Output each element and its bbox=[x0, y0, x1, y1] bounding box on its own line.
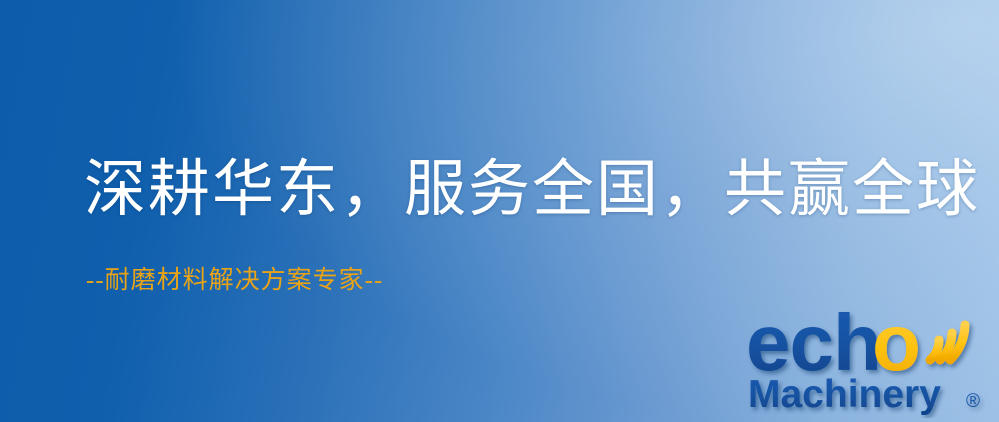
logo-tagline: Machinery bbox=[748, 373, 941, 416]
echo-machinery-logo[interactable]: ech o Machinery ® bbox=[744, 292, 994, 418]
logo-artwork: ech o Machinery ® bbox=[744, 292, 994, 418]
signal-waves-icon bbox=[930, 325, 965, 360]
hero-banner: 深耕华东，服务全国，共赢全球 --耐磨材料解决方案专家-- bbox=[0, 0, 999, 422]
page-title: 深耕华东，服务全国，共赢全球 bbox=[84, 155, 980, 225]
page-subtitle: --耐磨材料解决方案专家-- bbox=[86, 266, 383, 296]
logo-trademark: ® bbox=[966, 391, 980, 412]
